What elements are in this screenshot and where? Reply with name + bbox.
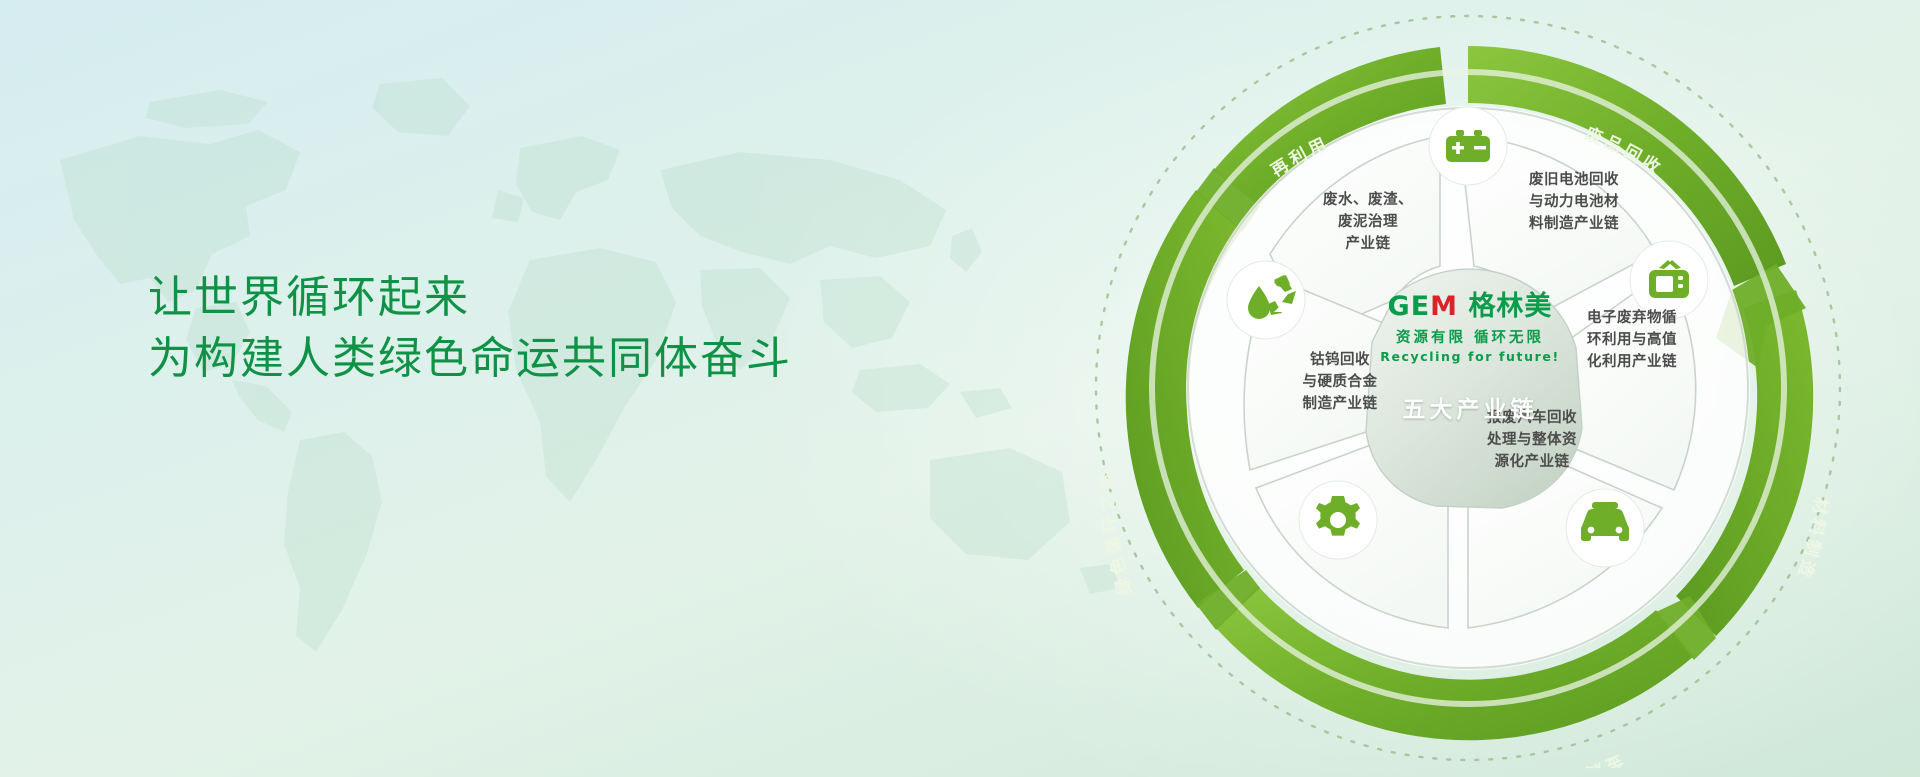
icon-bubble-car[interactable] <box>1566 489 1644 567</box>
icon-bubble-television[interactable] <box>1630 241 1708 319</box>
five-industry-chain-diagram: 废品回收 再利用 材料制造 金属材料 绿色循环之路 <box>1016 8 1920 768</box>
icon-bubble-gear[interactable] <box>1299 481 1377 559</box>
arc-label-greenpath: 绿色循环之路 <box>1097 469 1137 598</box>
icon-bubble-recycle-drop[interactable] <box>1227 261 1305 339</box>
arc-label-material: 材料制造 <box>1792 496 1831 583</box>
arc-label-remanu: 金属材料 <box>1539 750 1627 768</box>
headline-line-1: 让世界循环起来 <box>148 268 908 329</box>
icon-bubble-battery[interactable] <box>1429 107 1507 185</box>
headline-line-2: 为构建人类绿色命运共同体奋斗 <box>148 329 908 390</box>
center-hub-shape <box>1366 269 1582 508</box>
banner-root: 让世界循环起来 为构建人类绿色命运共同体奋斗 <box>0 0 1920 777</box>
headline: 让世界循环起来 为构建人类绿色命运共同体奋斗 <box>148 268 908 389</box>
world-map-watermark <box>0 40 1180 740</box>
